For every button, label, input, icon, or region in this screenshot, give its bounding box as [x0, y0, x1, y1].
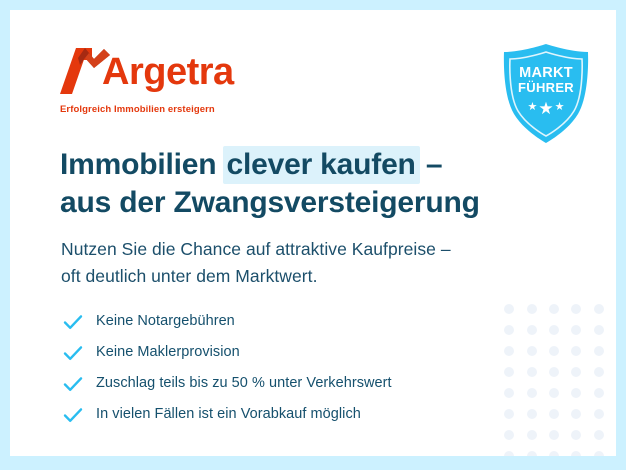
market-leader-badge: MARKT FÜHRER ★ ★ ★: [498, 42, 594, 146]
list-item-label: Keine Notargebühren: [96, 313, 235, 330]
logo-lockup: Argetra: [58, 44, 258, 100]
logo-wordmark: Argetra: [102, 53, 234, 91]
list-item-label: Zuschlag teils bis zu 50 % unter Verkehr…: [96, 375, 392, 392]
logo-tagline: Erfolgreich Immobilien ersteigern: [60, 104, 215, 115]
list-item-label: Keine Maklerprovision: [96, 344, 240, 361]
subtitle-line-1: Nutzen Sie die Chance auf attraktive Kau…: [61, 236, 561, 263]
list-item: Keine Maklerprovision: [62, 337, 532, 368]
headline-line-2: aus der Zwangsversteigerung: [60, 184, 580, 222]
shield-icon: [498, 42, 594, 146]
page-frame: Argetra Erfolgreich Immobilien ersteiger…: [0, 0, 626, 470]
headline-prefix: Immobilien: [60, 148, 225, 181]
check-icon: [62, 342, 84, 364]
page-subtitle: Nutzen Sie die Chance auf attraktive Kau…: [61, 236, 561, 290]
list-item-label: In vielen Fällen ist ein Vorabkauf mögli…: [96, 406, 361, 423]
list-item: Zuschlag teils bis zu 50 % unter Verkehr…: [62, 368, 532, 399]
headline-suffix: –: [418, 148, 443, 181]
page-title: Immobilien clever kaufen – aus der Zwang…: [60, 146, 580, 222]
list-item: In vielen Fällen ist ein Vorabkauf mögli…: [62, 399, 532, 430]
check-icon: [62, 404, 84, 426]
subtitle-line-2: oft deutlich unter dem Marktwert.: [61, 263, 561, 290]
check-icon: [62, 373, 84, 395]
argetra-logo: Argetra Erfolgreich Immobilien ersteiger…: [58, 44, 258, 122]
benefits-list: Keine Notargebühren Keine Maklerprovisio…: [62, 306, 532, 430]
promo-card: Argetra Erfolgreich Immobilien ersteiger…: [10, 10, 616, 456]
check-icon: [62, 311, 84, 333]
headline-highlight: clever kaufen: [223, 146, 420, 184]
list-item: Keine Notargebühren: [62, 306, 532, 337]
